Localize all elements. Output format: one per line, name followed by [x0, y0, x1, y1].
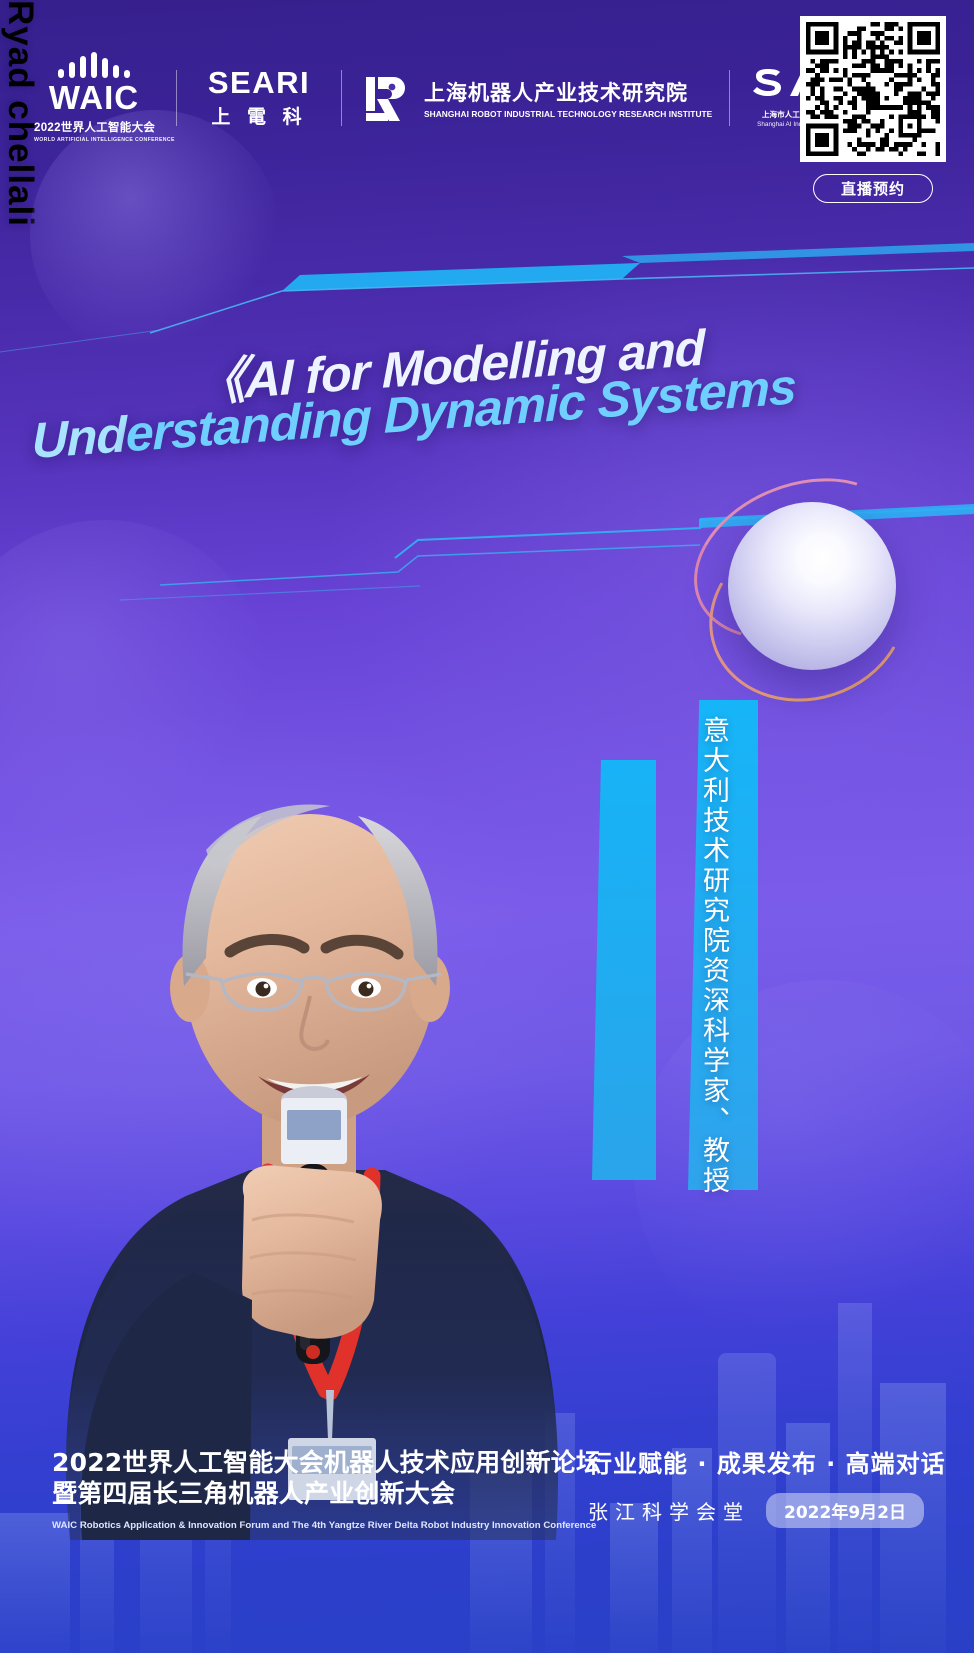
logo-waic: WAIC 2022世界人工智能大会 WORLD ARTIFICIAL INTEL…	[34, 52, 154, 143]
waic-en-label: WORLD ARTIFICIAL INTELLIGENCE CONFERENCE	[34, 137, 154, 143]
logo-divider	[729, 70, 730, 126]
event-poster: WAIC 2022世界人工智能大会 WORLD ARTIFICIAL INTEL…	[0, 0, 974, 1653]
speaker-photo	[0, 600, 620, 1540]
logo-divider	[176, 70, 177, 126]
orbit-ring-icon	[687, 503, 930, 726]
speaker-role: 意大利技术研究院资深科学家、教授	[694, 716, 733, 1196]
event-date-badge: 2022年9月2日	[766, 1493, 924, 1528]
logo-srit: 上海机器人产业技术研究院 SHANGHAI ROBOT INDUSTRIAL T…	[364, 73, 707, 123]
logo-seari: SEARI 上 電 科	[199, 67, 319, 129]
seari-wordmark: SEARI	[199, 67, 319, 98]
srit-mark-icon	[364, 73, 411, 123]
footer-event-info: 行业赋能 · 成果发布 · 高端对话 张江科学会堂 2022年9月2日	[588, 1444, 948, 1528]
speaker-name-panel	[592, 760, 656, 1180]
title-block: 《AI for Modelling and Understanding Dyna…	[0, 318, 974, 528]
forum-title-line-2: 暨第四届长三角机器人产业创新大会	[52, 1479, 572, 1510]
seari-cn-label: 上 電 科	[199, 102, 319, 129]
waic-wordmark: WAIC	[34, 81, 154, 114]
event-venue: 张江科学会堂	[588, 1496, 750, 1525]
logo-divider	[341, 70, 342, 126]
qr-section: 直播预约	[800, 16, 946, 203]
event-slogan: 行业赋能 · 成果发布 · 高端对话	[588, 1444, 948, 1479]
venue-date-row: 张江科学会堂 2022年9月2日	[588, 1493, 948, 1528]
partner-logo-bar: WAIC 2022世界人工智能大会 WORLD ARTIFICIAL INTEL…	[34, 52, 856, 143]
live-stream-booking-button[interactable]: 直播预约	[813, 174, 933, 203]
qr-code-icon[interactable]	[800, 16, 946, 162]
forum-title-english: WAIC Robotics Application & Innovation F…	[52, 1520, 572, 1531]
footer-forum-info: 2022世界人工智能大会机器人技术应用创新论坛 暨第四届长三角机器人产业创新大会…	[52, 1448, 572, 1531]
glow-blob	[634, 980, 974, 1360]
srit-cn-label: 上海机器人产业技术研究院	[424, 77, 707, 107]
waic-dots-icon	[34, 52, 154, 78]
forum-title-line-1: 2022世界人工智能大会机器人技术应用创新论坛	[52, 1448, 572, 1479]
title-line-2-lead: Und	[32, 406, 126, 469]
srit-en-label: SHANGHAI ROBOT INDUSTRIAL TECHNOLOGY RES…	[424, 110, 712, 119]
waic-cn-label: 2022世界人工智能大会	[34, 119, 154, 135]
